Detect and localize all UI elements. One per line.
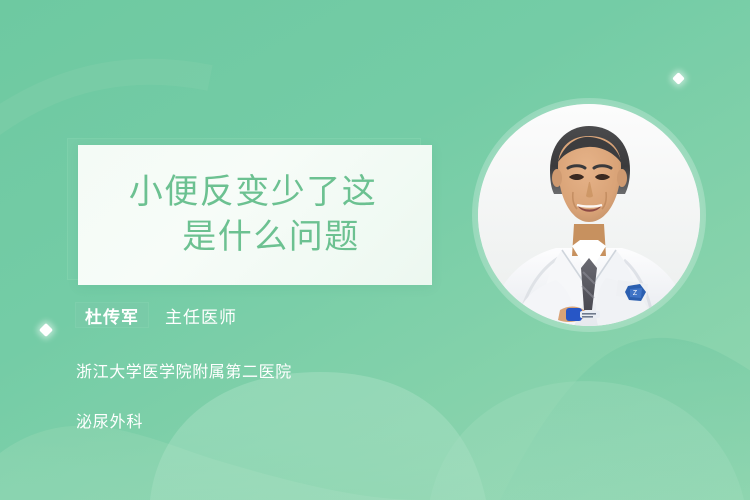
sparkle-diamond-icon	[672, 72, 685, 85]
doctor-rank: 主任医师	[165, 303, 237, 328]
doctor-qa-title-card: 小便反变少了这 是什么问题 杜传军 主任医师 浙江大学医学院附属第二医院 泌尿外…	[0, 0, 750, 500]
background-blob-bottom-right	[430, 381, 744, 500]
title-panel: 小便反变少了这 是什么问题	[78, 145, 432, 285]
doctor-name-chip: 杜传军	[76, 303, 148, 327]
title-panel-group: 小便反变少了这 是什么问题	[68, 139, 432, 285]
doctor-portrait: Z	[478, 104, 700, 326]
doctor-name: 杜传军	[85, 303, 139, 328]
page-title-line-1: 小便反变少了这	[92, 170, 418, 215]
portrait-circle-frame: Z	[478, 104, 700, 326]
svg-text:Z: Z	[633, 290, 638, 297]
background-wave-right	[500, 338, 750, 500]
sparkle-diamond-icon	[39, 323, 53, 337]
doctor-portrait-photo: Z	[478, 104, 700, 326]
doctor-info-block: 杜传军 主任医师 浙江大学医学院附属第二医院 泌尿外科	[76, 300, 476, 432]
page-title-line-2: 是什么问题	[92, 215, 418, 260]
background-wave-left	[0, 426, 420, 500]
doctor-department: 泌尿外科	[76, 408, 476, 432]
doctor-hospital: 浙江大学医学院附属第二医院	[76, 358, 476, 382]
doctor-identity-row: 杜传军 主任医师	[76, 300, 476, 330]
